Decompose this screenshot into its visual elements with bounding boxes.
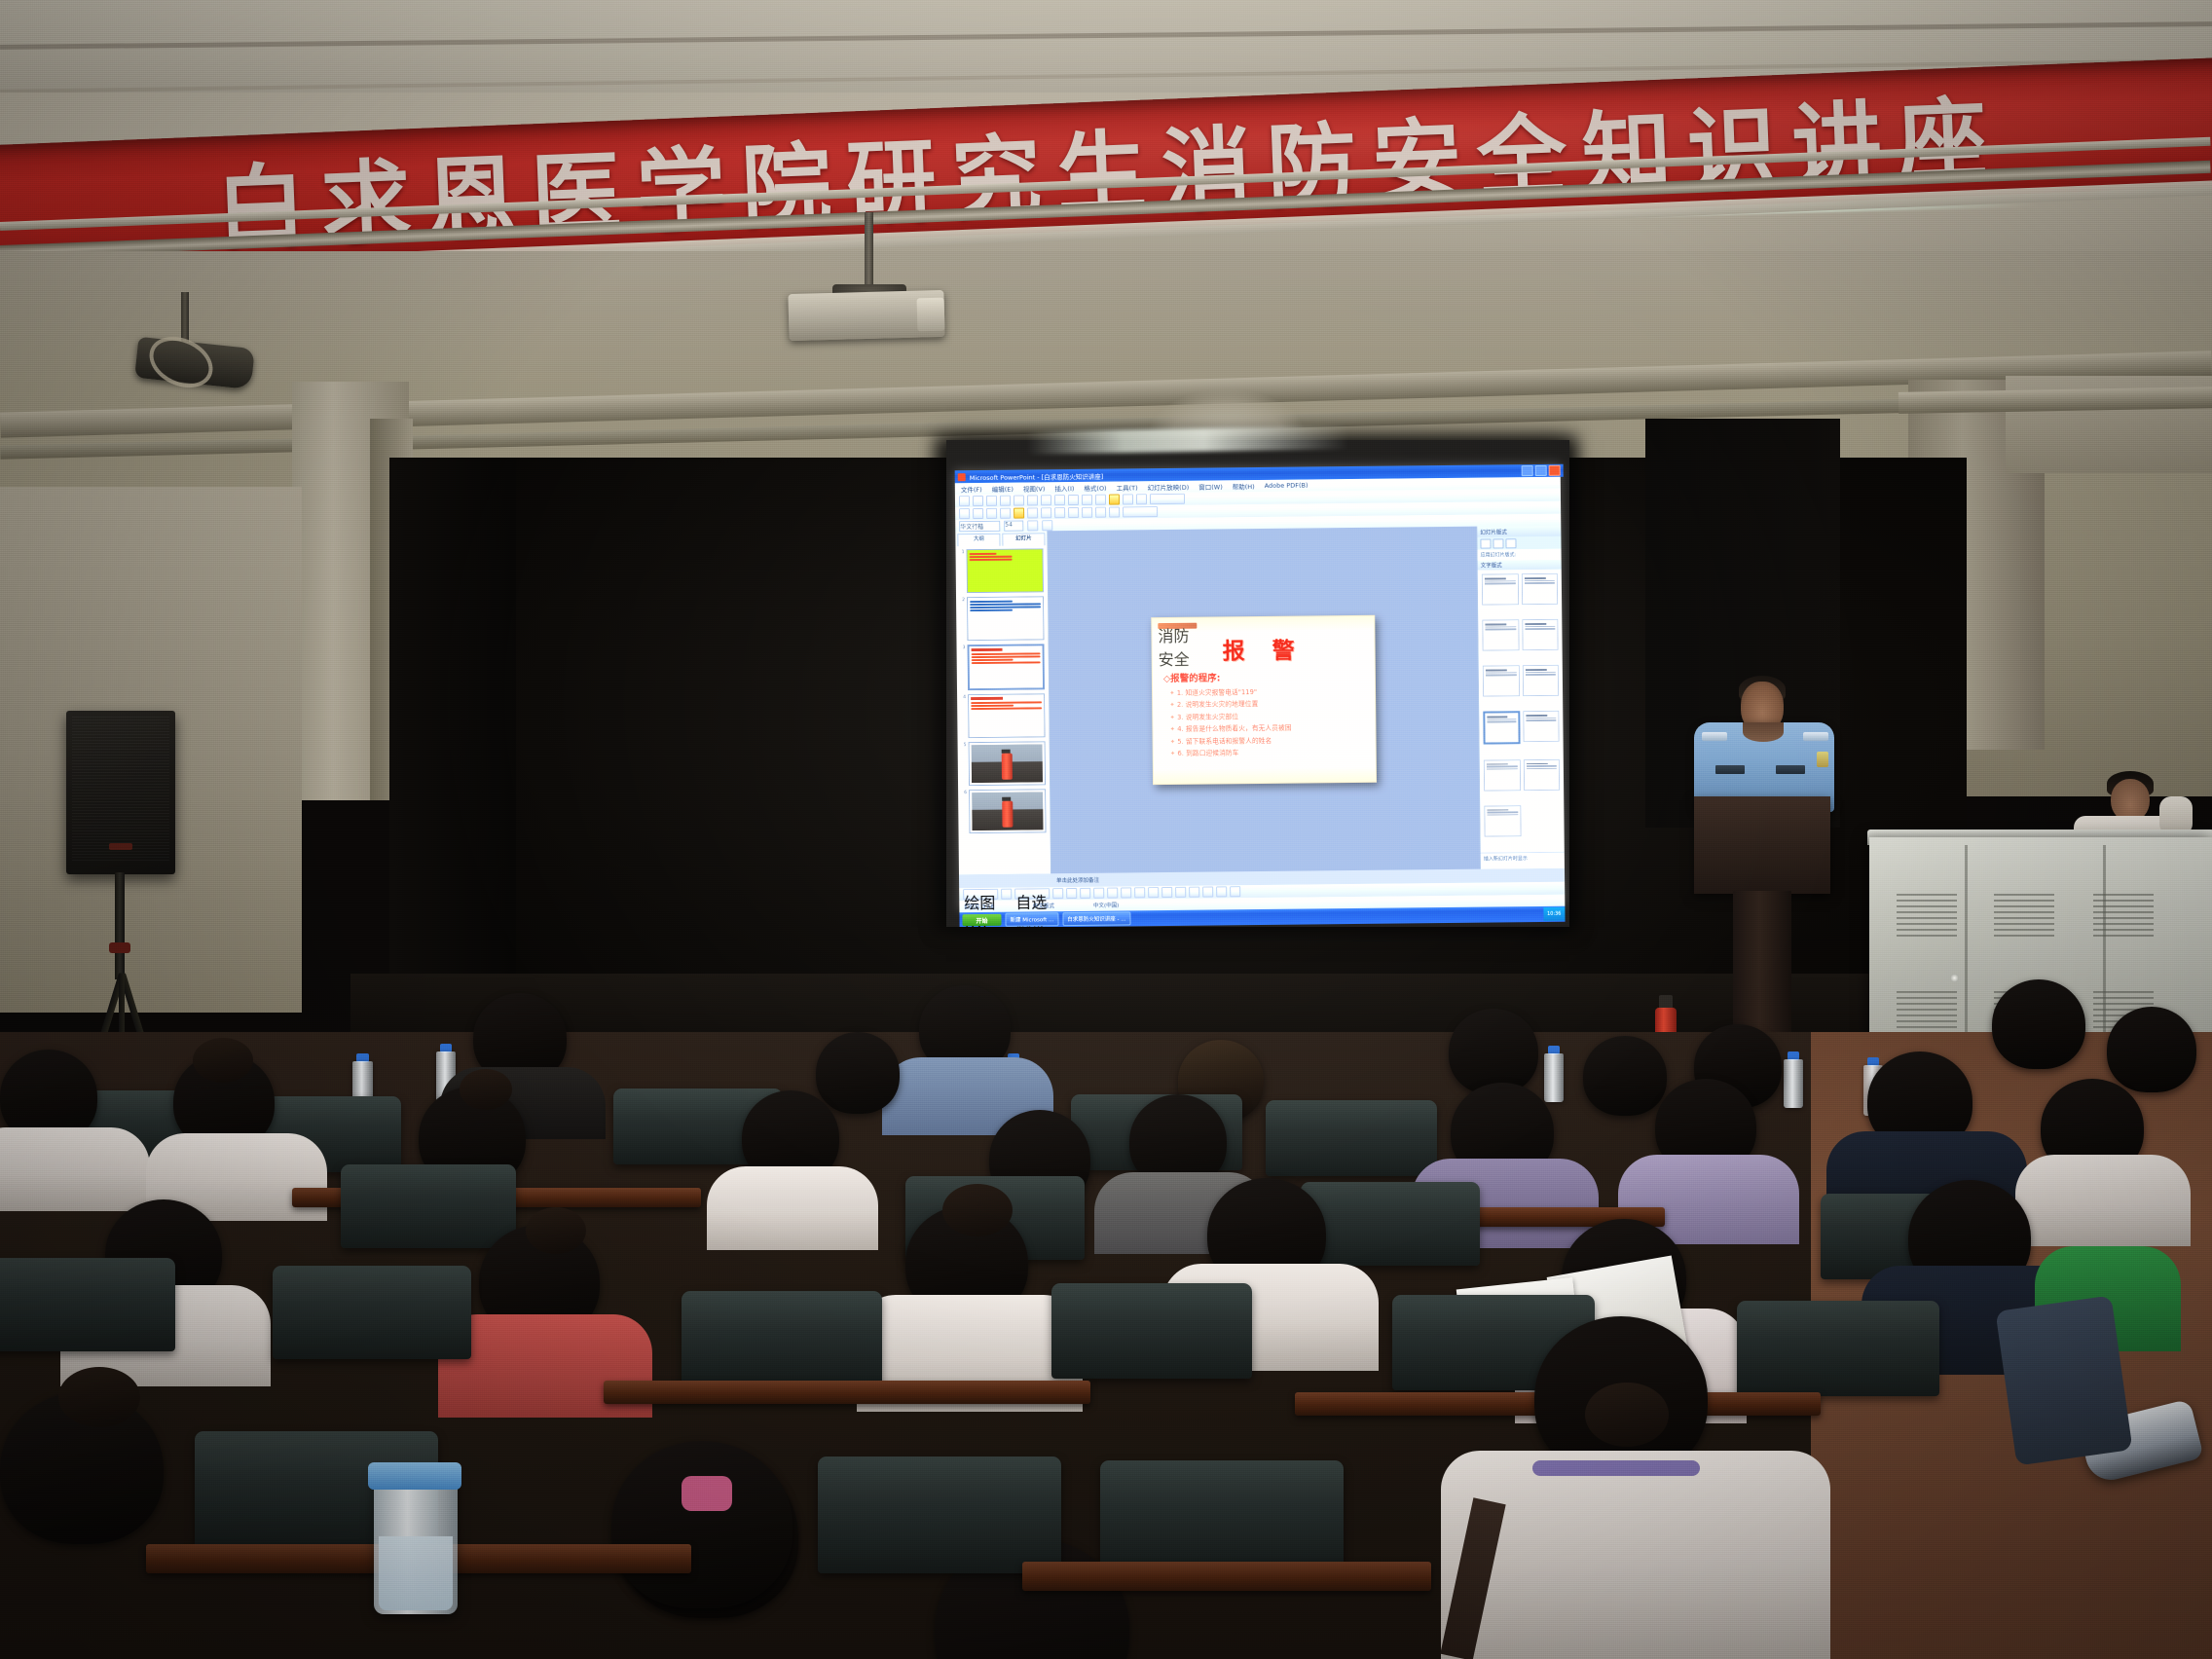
powerpoint-icon [958, 473, 966, 481]
seat-row-rail [604, 1381, 1090, 1404]
3d-style-icon[interactable] [1230, 886, 1240, 897]
shadow-icon[interactable] [1000, 508, 1011, 519]
slide-thumbnail[interactable] [966, 548, 1043, 593]
slide-bullet: ✦3. 说明发生火灾部位 [1169, 710, 1366, 721]
cut-icon[interactable] [1041, 495, 1051, 505]
audience-head [816, 1032, 900, 1114]
undo-icon[interactable] [1082, 495, 1092, 505]
arrow-icon[interactable] [1066, 888, 1077, 899]
extinguisher-photo [972, 744, 1043, 783]
save-icon[interactable] [986, 496, 997, 506]
status-slide-number: 幻灯片 3 / 6 [964, 903, 994, 910]
trouser-leg [1995, 1295, 2132, 1465]
uniform-pocket-left [1715, 765, 1745, 774]
current-slide[interactable]: 消防安全 报 警 ◇报警的程序: ✦1. 知道火灾报警电话"119" ✦2. 说… [1151, 615, 1377, 785]
extinguisher-body [1001, 753, 1012, 779]
list-item[interactable]: 3 [961, 644, 1045, 690]
slide-canvas[interactable]: 消防安全 报 警 ◇报警的程序: ✦1. 知道火灾报警电话"119" ✦2. 说… [1048, 527, 1480, 874]
thumbnail-number: 6 [962, 790, 967, 795]
redo-icon[interactable] [1095, 495, 1106, 505]
audience-shoulders [1441, 1451, 1830, 1659]
line-color-icon[interactable] [1189, 887, 1199, 898]
navigator-tabs[interactable]: 大纲 幻灯片 [955, 531, 1047, 546]
list-item[interactable]: 6 [962, 789, 1046, 833]
thumb-title [971, 697, 1003, 700]
menu-item-view[interactable]: 视图(V) [1023, 483, 1046, 493]
slide-thumbnail[interactable] [969, 741, 1046, 786]
textbox-icon[interactable] [1107, 888, 1118, 899]
task-pane[interactable]: 幻灯片版式 应用幻灯片版式: 文字版式 [1476, 526, 1565, 869]
auditorium-seat [818, 1456, 1061, 1573]
auditorium-photo: 白求恩医学院研究生消防安全知识讲座 Microsoft PowerPoint -… [0, 0, 2212, 1659]
podium-stem [1733, 891, 1791, 1047]
seat-row-rail [1022, 1562, 1431, 1591]
thumb-line [972, 661, 1041, 664]
forward-icon[interactable] [1493, 538, 1503, 548]
line-icon[interactable] [1052, 888, 1063, 899]
maximize-icon[interactable] [1535, 465, 1547, 476]
list-item[interactable]: 1 [959, 548, 1043, 593]
spellcheck-icon[interactable] [1027, 495, 1038, 505]
bullets-icon[interactable] [1054, 507, 1065, 518]
insert-chart-icon[interactable] [1109, 494, 1120, 504]
slide-navigator-pane[interactable]: 大纲 幻灯片 1 2 [955, 531, 1051, 874]
rectangle-icon[interactable] [1080, 888, 1090, 899]
open-icon[interactable] [973, 496, 983, 506]
audience-head [2107, 1007, 2196, 1092]
menu-item-window[interactable]: 窗口(W) [1198, 481, 1223, 491]
system-tray[interactable]: 10:36 [1543, 907, 1566, 921]
font-color-icon[interactable] [1109, 506, 1120, 517]
bold-icon[interactable] [1027, 520, 1038, 531]
task-pane-nav[interactable] [1477, 536, 1561, 550]
cabinet-divider [1965, 845, 1968, 1051]
cabinet-louver [2093, 894, 2154, 939]
auditorium-seat [1266, 1100, 1437, 1176]
layout-option[interactable] [1484, 759, 1521, 791]
bold-icon[interactable] [959, 508, 970, 519]
water-bottle [1544, 1053, 1564, 1102]
thumb-line [970, 559, 1013, 561]
slide-thumbnail[interactable] [967, 596, 1044, 641]
epaulette-left [1702, 732, 1727, 741]
align-right-icon[interactable] [1041, 507, 1051, 518]
task-pane-title: 幻灯片版式 [1477, 526, 1561, 537]
projector-lens [917, 298, 945, 332]
slide-design-button[interactable] [1123, 506, 1158, 517]
thumbnail-number: 5 [962, 742, 967, 748]
thumb-line [971, 701, 1042, 704]
editor-body: 大纲 幻灯片 1 2 [955, 526, 1565, 874]
layout-option[interactable] [1482, 619, 1519, 650]
auditorium-seat [1737, 1301, 1939, 1396]
layout-option-selected[interactable] [1483, 712, 1520, 745]
shirt-collar-trim [1532, 1460, 1700, 1476]
audience-shoulders [2015, 1155, 2191, 1246]
tab-outline[interactable]: 大纲 [957, 534, 1000, 546]
cabinet-louver [1897, 991, 1957, 1036]
layout-option[interactable] [1522, 619, 1559, 650]
layout-option[interactable] [1522, 665, 1559, 696]
oval-icon[interactable] [1093, 888, 1104, 899]
layout-option[interactable] [1484, 805, 1521, 836]
slide-thumbnail-selected[interactable] [968, 644, 1045, 690]
new-icon[interactable] [959, 496, 970, 506]
layout-gallery[interactable] [1478, 570, 1565, 853]
audience-head [1583, 1036, 1667, 1116]
shadow-style-icon[interactable] [1216, 886, 1227, 897]
menu-item-format[interactable]: 格式(O) [1084, 483, 1106, 493]
underline-icon[interactable] [986, 508, 997, 519]
preview-icon[interactable] [1014, 496, 1024, 506]
layout-option[interactable] [1483, 666, 1520, 697]
list-item[interactable]: 2 [960, 596, 1044, 641]
menu-item-tools[interactable]: 工具(T) [1117, 482, 1138, 492]
start-button[interactable]: 开始 [962, 914, 1001, 926]
cabinet-louver [1897, 894, 1957, 939]
auditorium-seat [1301, 1182, 1480, 1266]
task-pane-subtitle: 应用幻灯片版式: [1478, 549, 1562, 561]
thumb-line [970, 609, 1013, 611]
thumb-line [970, 553, 997, 555]
uniform-nameplate [1776, 765, 1805, 774]
slide-thumbnail-list[interactable]: 1 2 [955, 545, 1051, 874]
italic-icon[interactable] [1042, 520, 1052, 531]
audience-head [1449, 1009, 1538, 1094]
italic-icon[interactable] [973, 508, 983, 519]
menu-item-help[interactable]: 帮助(H) [1233, 481, 1255, 491]
home-icon[interactable] [1505, 538, 1516, 548]
extinguisher-photo [972, 792, 1043, 830]
numbering-icon[interactable] [1068, 507, 1079, 518]
thumbnail-number: 4 [961, 694, 966, 700]
align-center-icon[interactable] [1014, 508, 1024, 519]
slide-bullet: ✦2. 说明发生火灾的地理位置 [1169, 697, 1366, 709]
clipart-icon[interactable] [1148, 887, 1159, 898]
decrease-font-icon[interactable] [1095, 507, 1106, 518]
audience-hair-bun [193, 1038, 253, 1083]
tab-slides[interactable]: 幻灯片 [1002, 533, 1045, 545]
copy-icon[interactable] [1054, 495, 1065, 505]
audience-shoulders [0, 1127, 150, 1211]
auditorium-seat [0, 1258, 175, 1351]
auditorium-seat [682, 1291, 882, 1386]
slide-bullet: ✦6. 到路口迎候消防车 [1170, 746, 1367, 757]
projector-mount-pole [865, 212, 873, 288]
increase-font-icon[interactable] [1082, 507, 1092, 518]
thumbnail-number: 1 [959, 549, 964, 555]
print-icon[interactable] [1000, 496, 1011, 506]
auditorium-seat [1051, 1283, 1252, 1379]
cup-lid [368, 1462, 461, 1490]
font-size-field[interactable]: 54 [1004, 520, 1023, 531]
window-buttons[interactable] [1522, 465, 1564, 476]
auditorium-seat [341, 1164, 516, 1248]
slide-title: 报 警 [1161, 631, 1365, 666]
font-color-icon[interactable] [1202, 887, 1213, 898]
cup-water-level [379, 1536, 453, 1610]
presenter-neck [1743, 722, 1784, 742]
slide-corner-logo: 消防安全 [1158, 623, 1197, 629]
zoom-combobox[interactable] [1150, 494, 1185, 504]
taskbar-item[interactable]: 白求恩防火知识讲座 - ... [1062, 911, 1130, 926]
close-icon[interactable] [1549, 465, 1561, 476]
thumb-line [971, 707, 1042, 710]
auditorium-seat [1100, 1460, 1344, 1577]
thumbnail-number: 2 [960, 597, 965, 603]
tripod-post [115, 872, 125, 979]
audience-hair-bun [58, 1367, 140, 1427]
window-title: Microsoft PowerPoint - [白求恩防火知识讲座] [970, 470, 1104, 481]
menu-item-adobe-pdf[interactable]: Adobe PDF(B) [1265, 481, 1309, 489]
status-language: 中文(中国) [1093, 902, 1119, 909]
podium-top [1694, 796, 1830, 894]
layout-option[interactable] [1482, 573, 1519, 605]
extinguisher-body [1002, 800, 1013, 827]
shoulder-patch-icon [1817, 752, 1828, 767]
audience-hair-bun [460, 1069, 512, 1110]
menu-item-insert[interactable]: 插入(I) [1054, 483, 1074, 493]
back-icon[interactable] [1480, 538, 1491, 548]
wordart-icon[interactable] [1121, 887, 1131, 898]
menu-item-slideshow[interactable]: 幻灯片放映(D) [1148, 482, 1190, 492]
audience-hair-bun [942, 1184, 1013, 1236]
table-icon[interactable] [1123, 494, 1133, 504]
slide-bullet: ✦4. 报告是什么物质着火，有无人员被困 [1169, 721, 1366, 733]
thumbnail-number: 3 [961, 645, 966, 650]
slide-subtitle: ◇报警的程序: [1163, 669, 1366, 684]
paste-icon[interactable] [1068, 495, 1079, 505]
audience-hair-bun [526, 1207, 586, 1254]
tripod-knob [109, 942, 130, 953]
stage-curtain-left [389, 458, 516, 1042]
auditorium-seat [273, 1266, 471, 1359]
tray-clock: 10:36 [1547, 911, 1561, 917]
epaulette-right [1803, 732, 1828, 741]
speaker-badge [109, 843, 132, 850]
speaker-grille [72, 717, 169, 863]
thumb-title [972, 648, 1003, 651]
menu-item-edit[interactable]: 编辑(E) [992, 484, 1014, 494]
hyperlink-icon[interactable] [1136, 494, 1147, 504]
slide-bullet: ✦5. 留下联系电话和报警人的姓名 [1170, 733, 1367, 745]
menu-item-file[interactable]: 文件(F) [961, 484, 982, 494]
projection-screen: Microsoft PowerPoint - [白求恩防火知识讲座] 文件(F)… [946, 440, 1569, 927]
select-icon[interactable] [1001, 889, 1012, 900]
fill-color-icon[interactable] [1175, 887, 1186, 898]
diagram-icon[interactable] [1134, 887, 1145, 898]
task-pane-footer[interactable]: 插入新幻灯片时显示 [1481, 852, 1565, 869]
audience-head [611, 1441, 793, 1608]
slide-thumbnail[interactable] [969, 789, 1046, 833]
slide-bullet: ✦1. 知道火灾报警电话"119" [1169, 685, 1366, 697]
slide-thumbnail[interactable] [968, 693, 1045, 738]
picture-icon[interactable] [1161, 887, 1172, 898]
cabinet-handle[interactable] [1950, 974, 1959, 982]
powerpoint-window[interactable]: Microsoft PowerPoint - [白求恩防火知识讲座] 文件(F)… [955, 464, 1566, 910]
autoshapes-button[interactable]: 自选图形(U) [1014, 888, 1050, 899]
font-name-field[interactable]: 华文行楷 [959, 520, 1000, 531]
audience-shoulders [707, 1166, 878, 1250]
audience-head [1992, 979, 2085, 1069]
list-item[interactable]: 4 [961, 693, 1045, 738]
minimize-icon[interactable] [1522, 465, 1533, 476]
layout-option[interactable] [1521, 573, 1558, 605]
cabinet-louver [1994, 894, 2054, 939]
draw-menu-button[interactable]: 绘图(R) [963, 889, 998, 900]
taskbar-item[interactable]: 新建 Microsoft ... [1005, 912, 1058, 927]
water-bottle [1784, 1059, 1803, 1108]
status-design: 中文版式 [1033, 902, 1054, 909]
audience-hair-bun [1585, 1382, 1669, 1447]
layout-option[interactable] [1523, 711, 1560, 742]
layout-option[interactable] [1523, 758, 1560, 790]
thumb-line [970, 606, 1041, 608]
thumb-line [972, 655, 1041, 658]
hair-tie [682, 1476, 732, 1511]
list-item[interactable]: 5 [962, 741, 1046, 786]
align-left-icon[interactable] [1027, 507, 1038, 518]
